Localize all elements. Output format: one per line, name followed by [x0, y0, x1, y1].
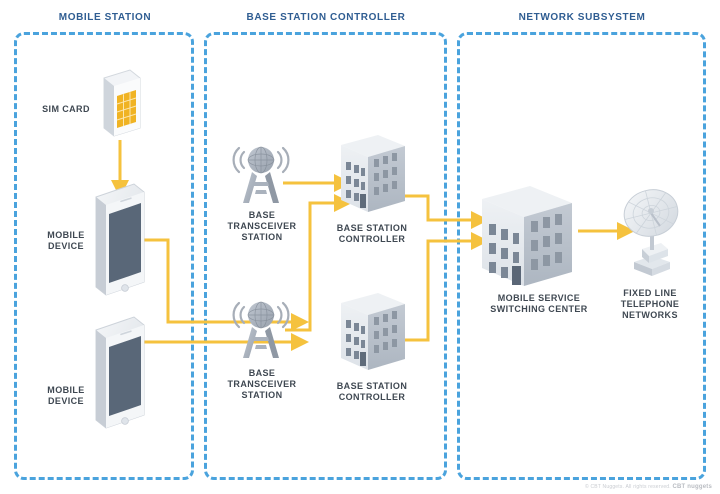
footer-watermark: © CBT Nuggets. All rights reserved. CBT …: [585, 484, 712, 490]
node-label-fixed-line: FIXED LINE TELEPHONE NETWORKS: [621, 288, 680, 321]
connector-bsc-top-to-msc: [405, 196, 474, 220]
connector-bsc-bottom-to-msc: [405, 241, 474, 340]
office-building-icon: [482, 186, 572, 286]
node-label-bts-top: BASE TRANSCEIVER STATION: [228, 210, 297, 243]
mobile-phone-icon: [96, 317, 144, 428]
mobile-phone-icon: [96, 184, 144, 295]
node-label-mobile-device-bottom: MOBILE DEVICE: [47, 385, 84, 407]
cell-tower-icon: [234, 147, 289, 203]
sim-card-icon: [104, 70, 140, 136]
node-label-bsc-bottom: BASE STATION CONTROLLER: [337, 381, 407, 403]
satellite-dish-icon: [619, 184, 683, 276]
brand-text: CBT nuggets: [672, 484, 712, 490]
node-label-sim-card: SIM CARD: [42, 104, 90, 115]
diagram-canvas: MOBILE STATION BASE STATION CONTROLLER N…: [0, 0, 720, 494]
node-label-bsc-top: BASE STATION CONTROLLER: [337, 223, 407, 245]
node-label-mobile-device-top: MOBILE DEVICE: [47, 230, 84, 252]
node-label-msc: MOBILE SERVICE SWITCHING CENTER: [490, 293, 587, 315]
office-building-icon: [341, 135, 405, 212]
office-building-icon: [341, 293, 405, 370]
copyright-text: © CBT Nuggets. All rights reserved.: [585, 484, 671, 490]
cell-tower-icon: [234, 302, 289, 358]
node-label-bts-bottom: BASE TRANSCEIVER STATION: [228, 368, 297, 401]
diagram-artwork: [0, 0, 720, 494]
